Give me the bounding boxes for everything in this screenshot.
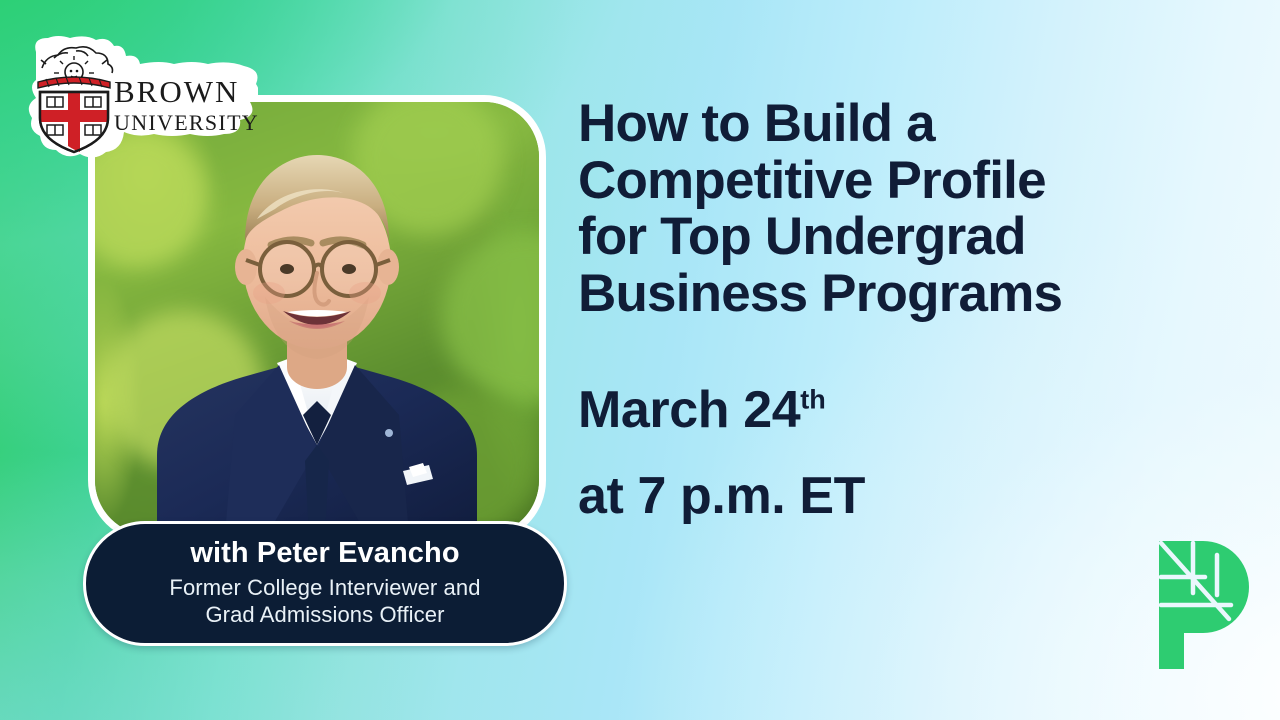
brown-crest-icon — [32, 42, 116, 154]
speaker-photo-card — [88, 95, 546, 542]
event-time: at 7 p.m. ET — [578, 467, 1178, 525]
speaker-name-badge: with Peter Evancho Former College Interv… — [83, 521, 567, 646]
page-title: How to Build a Competitive Profile for T… — [578, 96, 1218, 323]
speaker-portrait — [95, 102, 539, 535]
headline-line-2: Competitive Profile — [578, 153, 1218, 210]
headline-line-3: for Top Undergrad — [578, 209, 1218, 266]
event-datetime: March 24th at 7 p.m. ET — [578, 381, 1178, 525]
brown-university-logo: BROWN UNIVERSITY — [18, 36, 258, 160]
speaker-name: with Peter Evancho — [190, 538, 459, 570]
speaker-role-line1: Former College Interviewer and — [169, 574, 480, 602]
brown-wordmark: BROWN UNIVERSITY — [114, 76, 260, 134]
brown-wordmark-line2: UNIVERSITY — [114, 112, 260, 134]
headline-line-4: Business Programs — [578, 266, 1218, 323]
speaker-role-line2: Grad Admissions Officer — [169, 601, 480, 629]
speaker-role: Former College Interviewer and Grad Admi… — [169, 574, 480, 629]
event-date-text: March 24 — [578, 381, 800, 439]
leaf-p-logo-icon — [1157, 533, 1265, 669]
headline-line-1: How to Build a — [578, 96, 1218, 153]
event-date: March 24th — [578, 381, 1178, 439]
brown-wordmark-line1: BROWN — [114, 76, 260, 107]
event-date-ordinal: th — [800, 385, 826, 415]
